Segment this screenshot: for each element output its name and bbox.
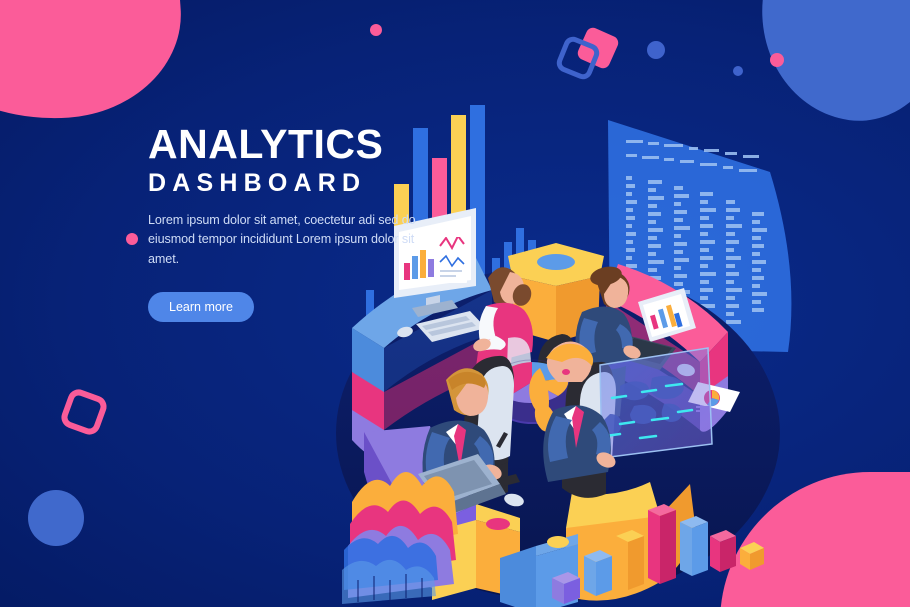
bar-3d-3 xyxy=(616,530,644,590)
bar-3d-4 xyxy=(648,504,676,584)
blue-dot-small-decoration xyxy=(733,66,743,76)
pink-dot-small-decoration xyxy=(370,24,382,36)
bar-3d-7 xyxy=(740,542,764,570)
page-subtitle: DASHBOARD xyxy=(148,168,416,199)
pink-blob-top-left-decoration xyxy=(0,0,188,130)
pink-dot-copy-decoration xyxy=(126,233,138,245)
rotated-square-filled-pink-icon xyxy=(576,26,621,71)
bar-3d-1 xyxy=(552,572,580,604)
rotated-square-outline-pink-icon xyxy=(62,390,106,434)
hero-banner: ANALYTICS DASHBOARD Lorem ipsum dolor si… xyxy=(0,0,910,607)
hero-copy-block: ANALYTICS DASHBOARD Lorem ipsum dolor si… xyxy=(148,124,416,322)
bar-3d-2 xyxy=(584,550,612,596)
page-title: ANALYTICS xyxy=(148,124,416,165)
learn-more-button[interactable]: Learn more xyxy=(148,292,254,322)
area-chart-stack xyxy=(342,472,458,604)
blue-circle-large-decoration xyxy=(28,490,84,546)
bar-3d-6 xyxy=(710,530,736,572)
hero-paragraph: Lorem ipsum dolor sit amet, coectetur ad… xyxy=(148,211,416,268)
bar-3d-5 xyxy=(680,516,708,576)
blue-dot-decoration xyxy=(647,41,665,59)
rotated-square-outline-blue-icon xyxy=(557,37,599,79)
